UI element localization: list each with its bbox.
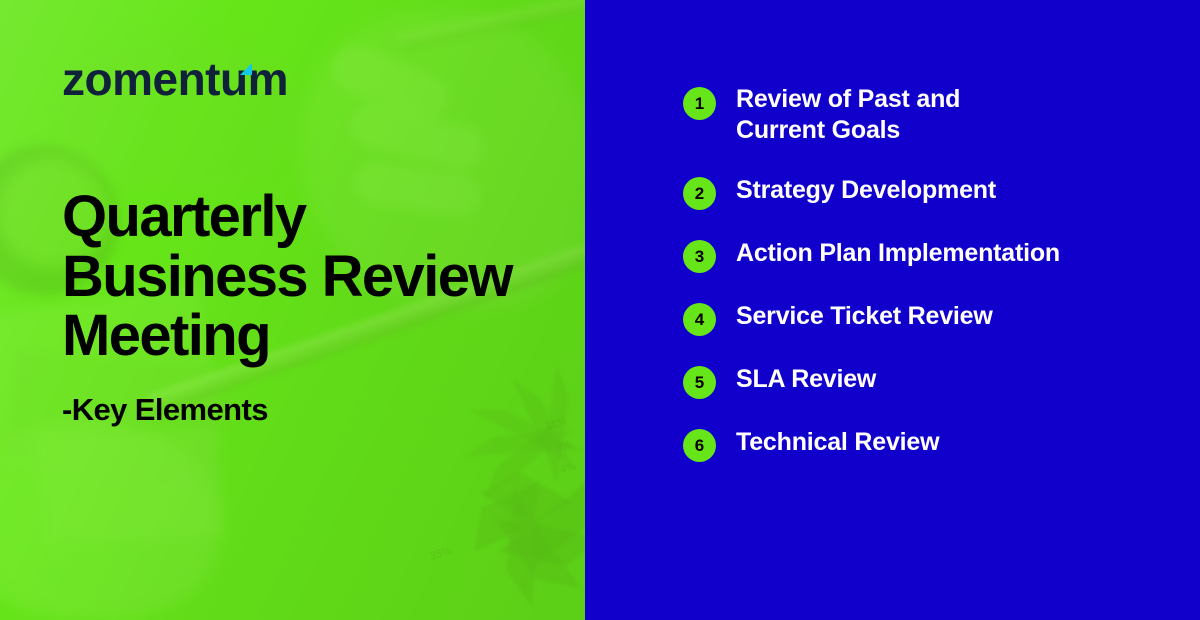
logo-accent-triangle-icon	[240, 63, 252, 75]
list-item: 6 Technical Review	[683, 427, 1200, 462]
list-item: 3 Action Plan Implementation	[683, 238, 1200, 273]
list-item-number-badge: 3	[683, 240, 716, 273]
list-item-number-badge: 1	[683, 87, 716, 120]
list-item-label: Technical Review	[736, 427, 939, 458]
list-item-label: Action Plan Implementation	[736, 238, 1060, 269]
list-item-number-badge: 6	[683, 429, 716, 462]
infographic-slide: 11% 9% 4% 35% zomentum Quarterly Busines…	[0, 0, 1200, 620]
right-panel: 1 Review of Past and Current Goals 2 Str…	[585, 0, 1200, 620]
list-item: 5 SLA Review	[683, 364, 1200, 399]
list-item-label: Service Ticket Review	[736, 301, 993, 332]
page-subtitle: -Key Elements	[62, 392, 545, 428]
left-panel: 11% 9% 4% 35% zomentum Quarterly Busines…	[0, 0, 585, 620]
left-content: zomentum Quarterly Business Review Meeti…	[0, 0, 585, 428]
list-item-label: SLA Review	[736, 364, 876, 395]
list-item: 2 Strategy Development	[683, 175, 1200, 210]
page-title: Quarterly Business Review Meeting	[62, 187, 545, 366]
list-item-label: Review of Past and Current Goals	[736, 84, 960, 145]
zomentum-logo: zomentum	[62, 56, 288, 102]
list-item-label: Strategy Development	[736, 175, 996, 206]
logo-wordmark: zomentum	[62, 53, 288, 105]
list-item: 4 Service Ticket Review	[683, 301, 1200, 336]
list-item-number-badge: 5	[683, 366, 716, 399]
list-item-number-badge: 2	[683, 177, 716, 210]
list-item-number-badge: 4	[683, 303, 716, 336]
list-item: 1 Review of Past and Current Goals	[683, 84, 1200, 145]
